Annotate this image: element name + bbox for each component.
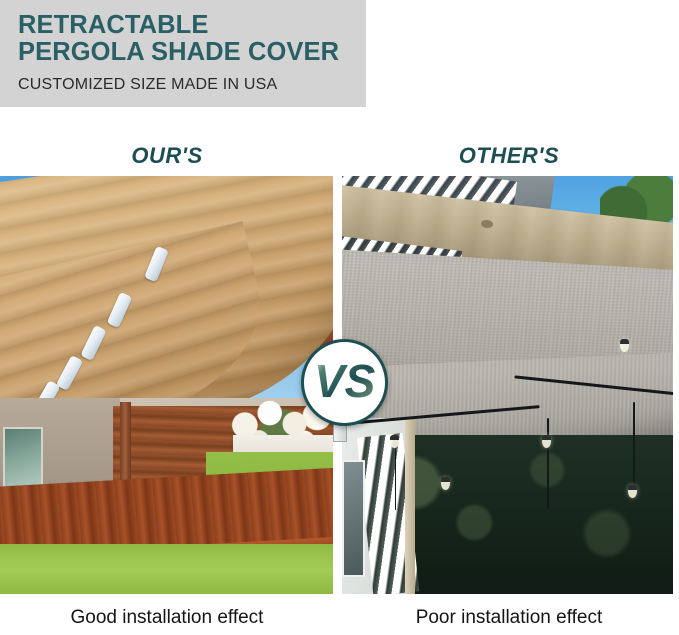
vs-badge: VS (301, 339, 388, 426)
good-installation-photo (0, 176, 333, 594)
light-bulb-icon (620, 339, 629, 352)
photo-panel-ours (0, 176, 333, 594)
caption-good-installation: Good installation effect (0, 605, 334, 631)
column-heading-ours: OUR'S (0, 142, 334, 170)
window-pane (342, 460, 365, 577)
column-heading-others: OTHER'S (342, 142, 676, 170)
string-light-drop (633, 402, 635, 486)
header-banner: RETRACTABLE PERGOLA SHADE COVER CUSTOMIZ… (0, 0, 366, 107)
vs-glyph: VS (314, 361, 376, 405)
vs-badge-label: VS (314, 361, 376, 405)
caption-poor-installation: Poor installation effect (342, 605, 676, 631)
photo-panel-others (342, 176, 673, 594)
poor-installation-photo (342, 176, 673, 594)
string-light-drop (547, 418, 549, 510)
page-subtitle: CUSTOMIZED SIZE MADE IN USA (18, 75, 366, 95)
trim-post (405, 418, 415, 594)
page-title: RETRACTABLE PERGOLA SHADE COVER (18, 12, 366, 66)
lawn-foreground (0, 544, 333, 594)
